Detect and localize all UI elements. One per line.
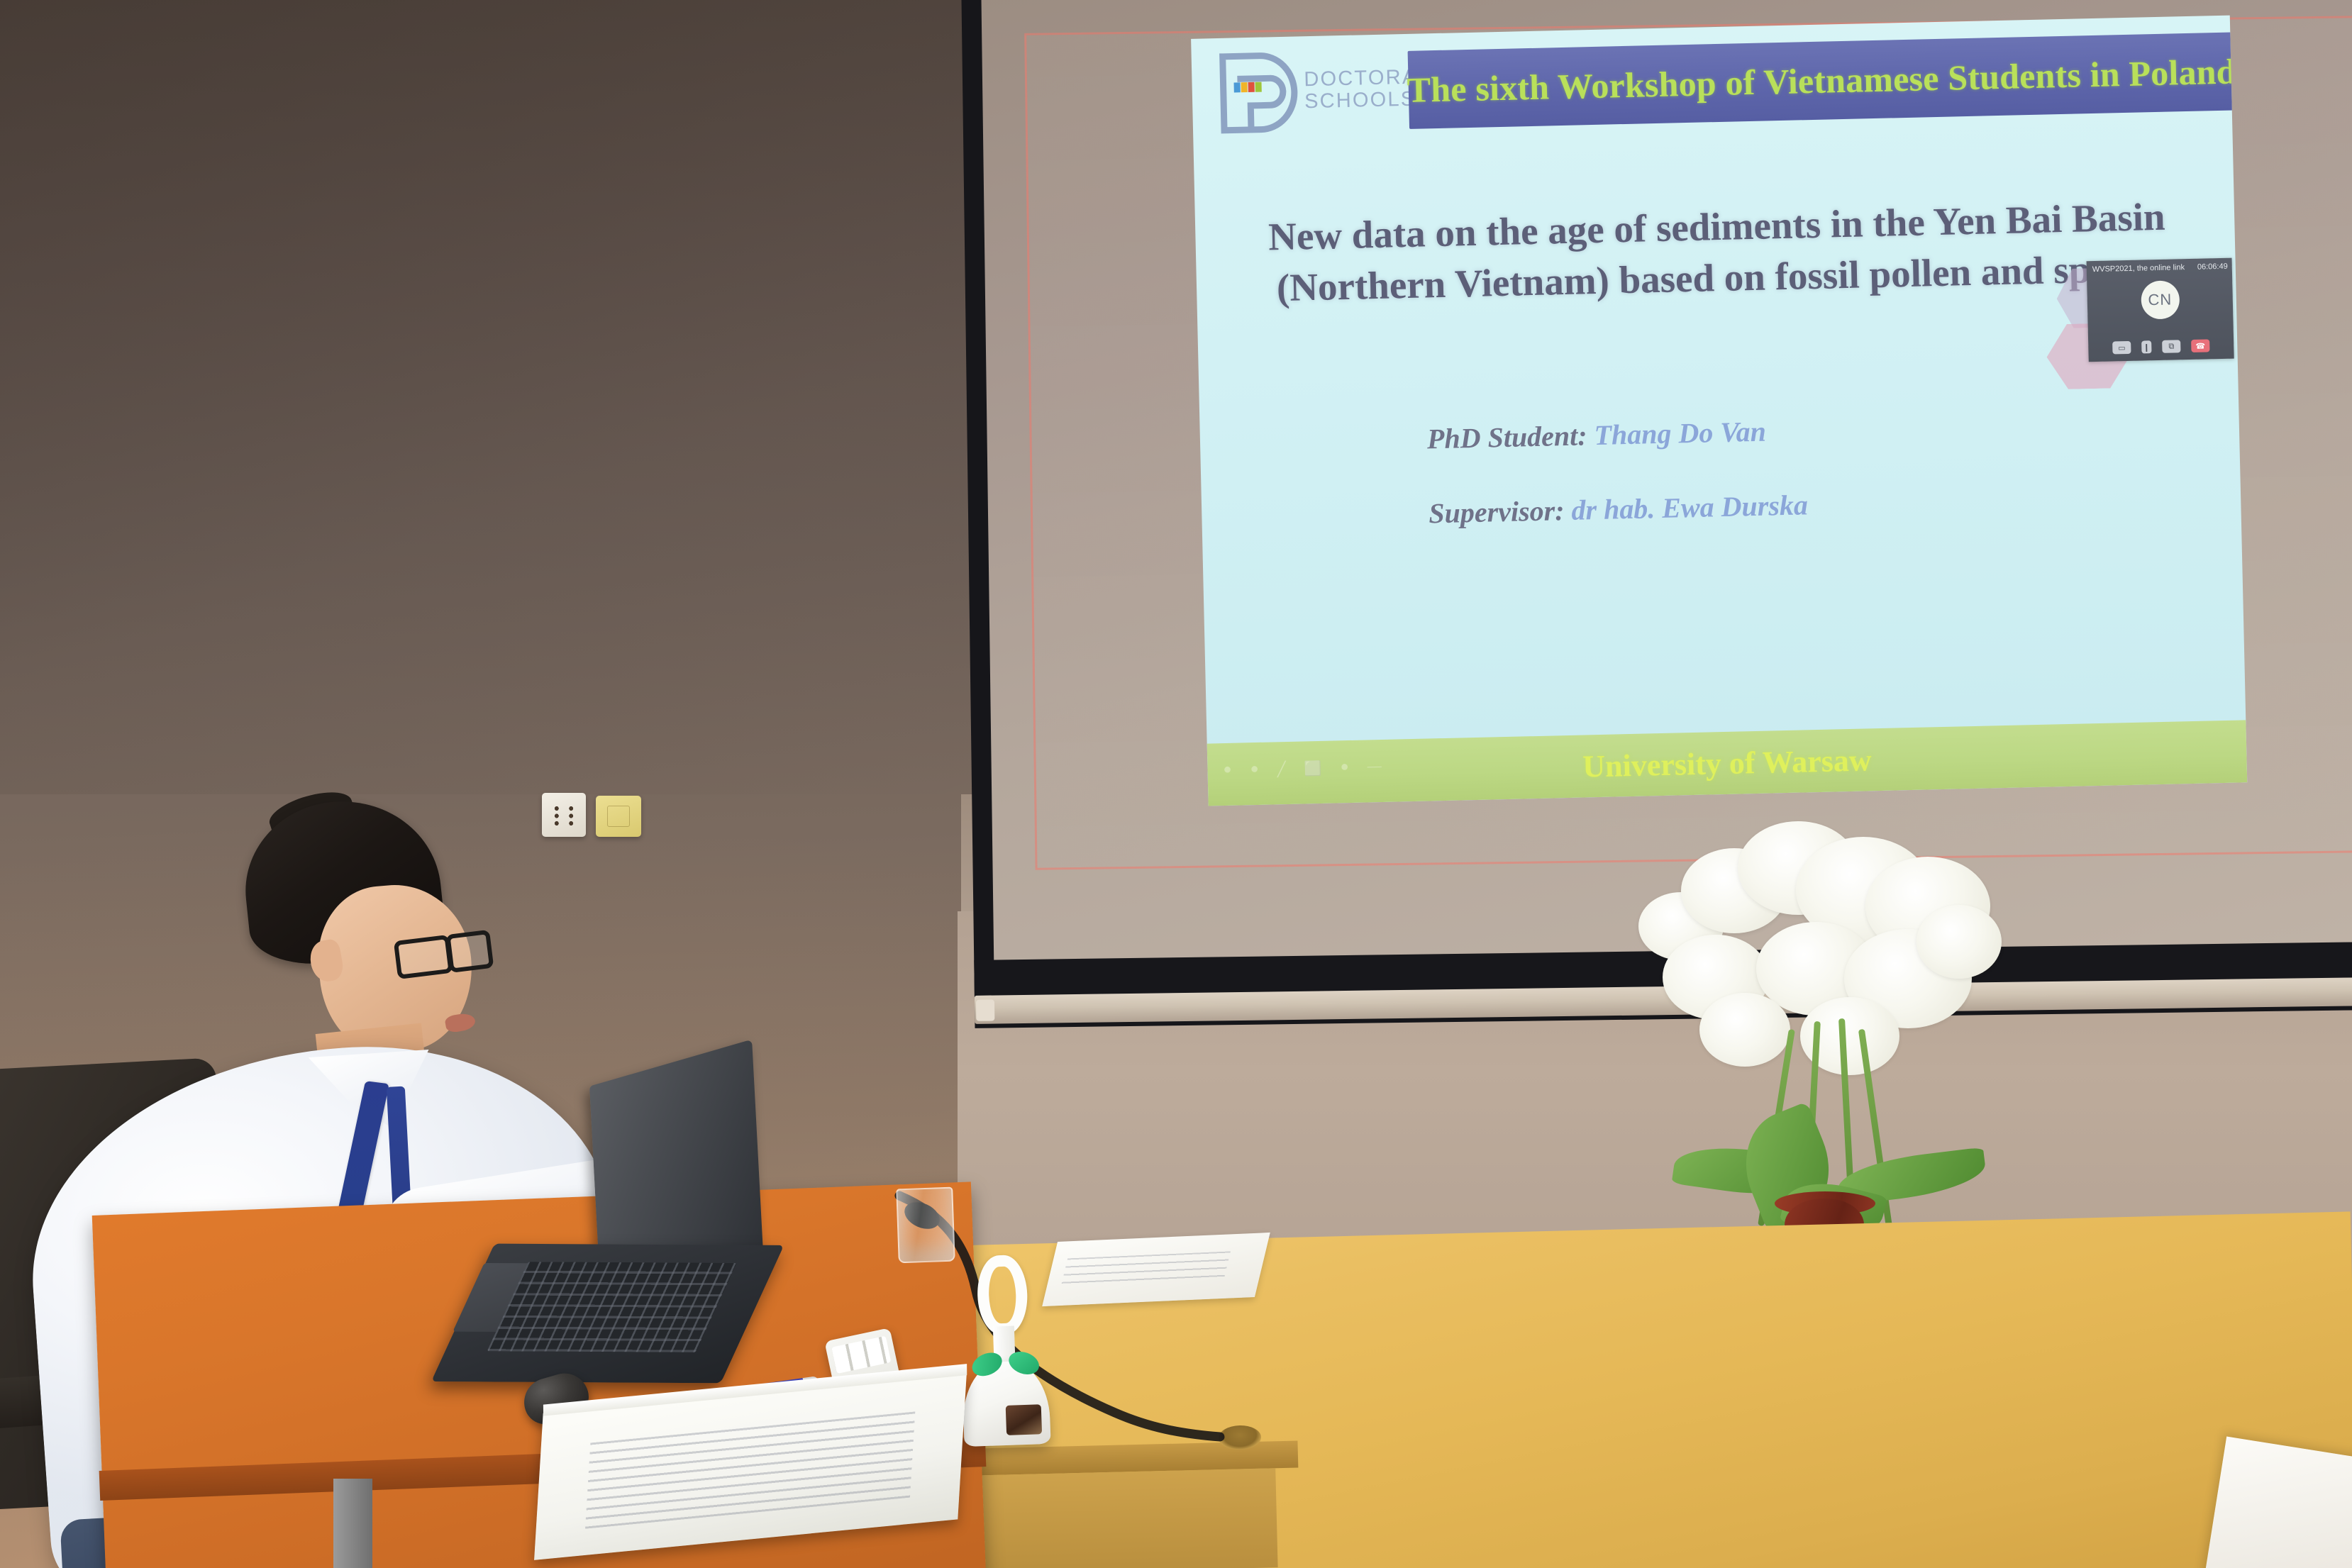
- lens-right: [445, 930, 494, 973]
- share-screen-icon[interactable]: ⧉: [2162, 340, 2180, 353]
- video-call-window[interactable]: WVSP2021, the online link 06:06:49 CN ▭ …: [2087, 258, 2234, 362]
- footer-icon-5: —: [1367, 758, 1382, 776]
- green-ribbon-bow: [971, 1352, 1040, 1377]
- supervisor-name: dr hab. Ewa Durska: [1571, 489, 1808, 526]
- microphone-toggle-icon[interactable]: ❙: [2141, 340, 2151, 353]
- doctoral-schools-logo: DOCTORAL SCHOOLS: [1209, 45, 1410, 138]
- lens-left: [394, 935, 453, 979]
- video-call-time: 06:06:49: [2197, 262, 2228, 272]
- footer-icon-1: ●: [1250, 761, 1259, 779]
- paper-text-lines: [585, 1411, 915, 1528]
- footer-icon-row: ● ● ╱ ⬜ ● —: [1223, 758, 1382, 779]
- souvenir-bell: [950, 1254, 1056, 1449]
- video-call-controls: ▭ ❙ ⧉ ☎: [2088, 335, 2234, 360]
- laptop[interactable]: [516, 1056, 776, 1341]
- footer-icon-2: ╱: [1277, 760, 1286, 778]
- wall-shadow: [0, 0, 993, 794]
- hang-up-icon[interactable]: ☎: [2191, 339, 2209, 352]
- flower-cluster: [1916, 905, 2002, 979]
- screen-roller-cap: [976, 1000, 994, 1021]
- document-folder-corner: [2202, 1437, 2352, 1568]
- camera-toggle-icon[interactable]: ▭: [2112, 341, 2131, 355]
- slide-credits: PhD Student: Thang Do Van Supervisor: dr…: [1426, 405, 2195, 571]
- avatar: CN: [2141, 280, 2180, 319]
- bell-picture-decal: [1006, 1404, 1042, 1435]
- doctoral-schools-d-mark: [1216, 49, 1302, 136]
- laptop-keyboard[interactable]: [487, 1262, 737, 1352]
- flower-cluster: [1699, 993, 1790, 1067]
- bell-handle: [976, 1255, 1028, 1335]
- paper-text-lines: [1061, 1251, 1231, 1285]
- drinking-glass: [896, 1187, 955, 1264]
- table-leg: [333, 1479, 372, 1568]
- video-call-title: WVSP2021, the online link: [2092, 263, 2185, 274]
- footer-icon-3: ⬜: [1304, 760, 1321, 778]
- footer-icon-0: ●: [1223, 762, 1232, 779]
- conference-room-photo: DOCTORAL SCHOOLS The sixth Workshop of V…: [0, 0, 2352, 1568]
- remote-top-buttons[interactable]: [831, 1336, 891, 1374]
- phd-student-name: Thang Do Van: [1594, 416, 1766, 451]
- loose-paper-sheet: [1042, 1233, 1270, 1306]
- phd-student-line: PhD Student: Thang Do Van: [1426, 405, 2193, 455]
- workshop-title: The sixth Workshop of Vietnamese Student…: [1408, 32, 2236, 128]
- supervisor-line: Supervisor: dr hab. Ewa Durska: [1429, 479, 2195, 530]
- presentation-slide: DOCTORAL SCHOOLS The sixth Workshop of V…: [1191, 16, 2247, 806]
- supervisor-role: Supervisor:: [1429, 494, 1565, 529]
- video-call-titlebar: WVSP2021, the online link 06:06:49: [2092, 262, 2228, 274]
- phd-student-role: PhD Student:: [1426, 419, 1587, 455]
- slide-header-band: The sixth Workshop of Vietnamese Student…: [1408, 32, 2236, 128]
- footer-icon-4: ●: [1340, 759, 1349, 777]
